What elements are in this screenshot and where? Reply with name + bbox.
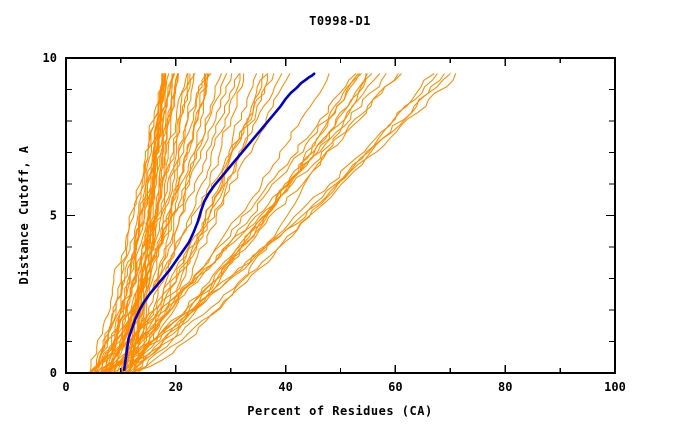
y-axis-tick-label: 10 [43,51,57,65]
y-axis-tick-label: 0 [50,366,57,380]
chart-page: T0998-D1 0204060801000510 Percent of Res… [0,0,680,440]
x-axis-tick-label: 40 [278,380,292,394]
x-axis-tick-label: 80 [498,380,512,394]
plot-canvas: 0204060801000510 Percent of Residues (CA… [0,0,680,440]
x-axis-tick-label: 100 [604,380,626,394]
x-axis-tick-label: 60 [388,380,402,394]
y-axis-tick-label: 5 [50,209,57,223]
y-axis-title: Distance Cutoff, A [17,145,31,284]
x-axis-title: Percent of Residues (CA) [247,404,432,418]
x-axis-tick-label: 0 [62,380,69,394]
x-axis-tick-label: 20 [169,380,183,394]
